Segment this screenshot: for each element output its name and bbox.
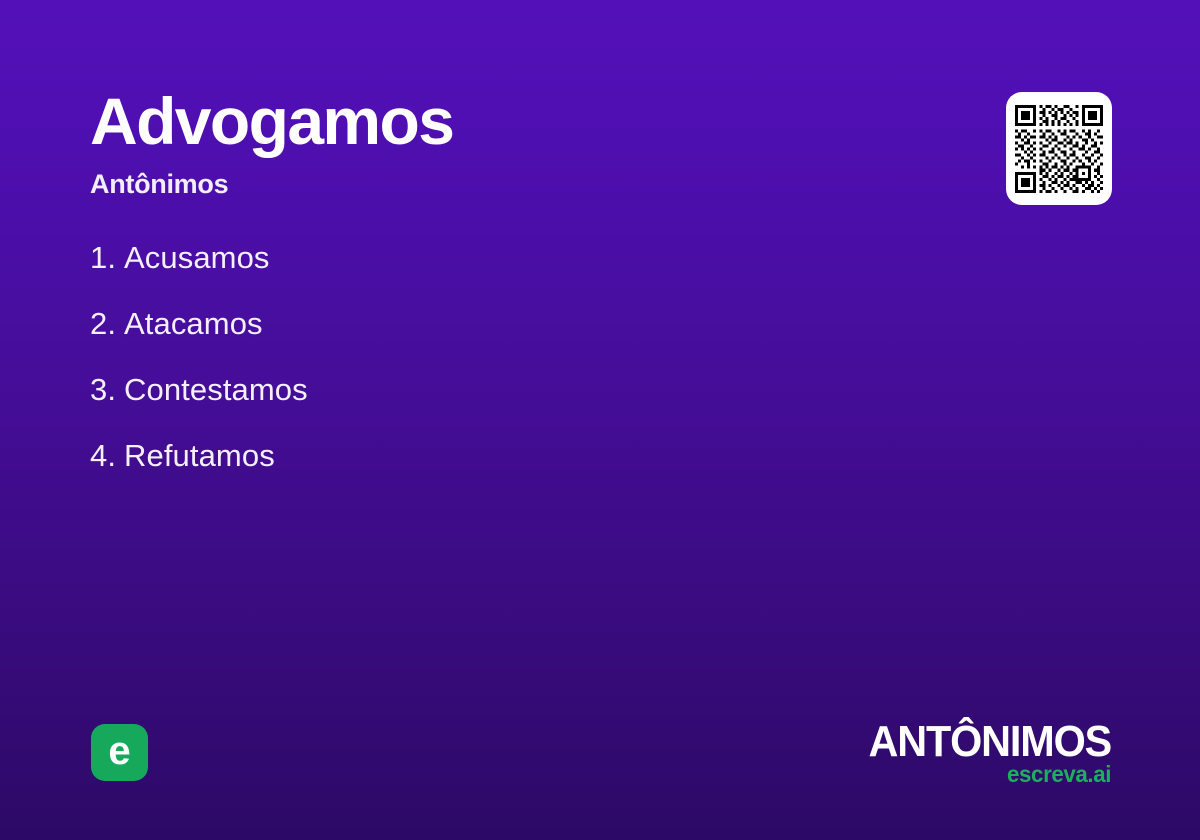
list-item: 3. Contestamos	[90, 368, 790, 434]
brand-logo: ANTÔNIMOS escreva.ai	[853, 722, 1111, 786]
page-title: Advogamos	[90, 88, 850, 155]
brand-logo-subtitle: escreva.ai	[861, 763, 1111, 786]
page-subtitle: Antônimos	[90, 169, 850, 200]
list-item-label: Refutamos	[124, 434, 275, 478]
list-item: 2. Atacamos	[90, 302, 790, 368]
list-item-label: Acusamos	[124, 236, 270, 280]
list-item-index: 1.	[90, 236, 124, 280]
brand-badge-letter: e	[108, 731, 130, 771]
escreva-e-logo-icon[interactable]: e	[91, 724, 148, 781]
list-item-label: Atacamos	[124, 302, 263, 346]
list-item-index: 4.	[90, 434, 124, 478]
list-item: 1. Acusamos	[90, 236, 790, 302]
title-block: Advogamos Antônimos	[90, 88, 850, 200]
qr-code-card[interactable]	[1006, 92, 1112, 205]
antonym-list: 1. Acusamos 2. Atacamos 3. Contestamos 4…	[90, 236, 790, 500]
slide-card: Advogamos Antônimos 1. Acusamos 2. Ataca…	[0, 0, 1200, 840]
qr-code-icon	[1015, 105, 1103, 193]
list-item-index: 3.	[90, 368, 124, 412]
brand-logo-word: ANTÔNIMOS	[868, 722, 1111, 762]
list-item-index: 2.	[90, 302, 124, 346]
list-item-label: Contestamos	[124, 368, 308, 412]
list-item: 4. Refutamos	[90, 434, 790, 500]
